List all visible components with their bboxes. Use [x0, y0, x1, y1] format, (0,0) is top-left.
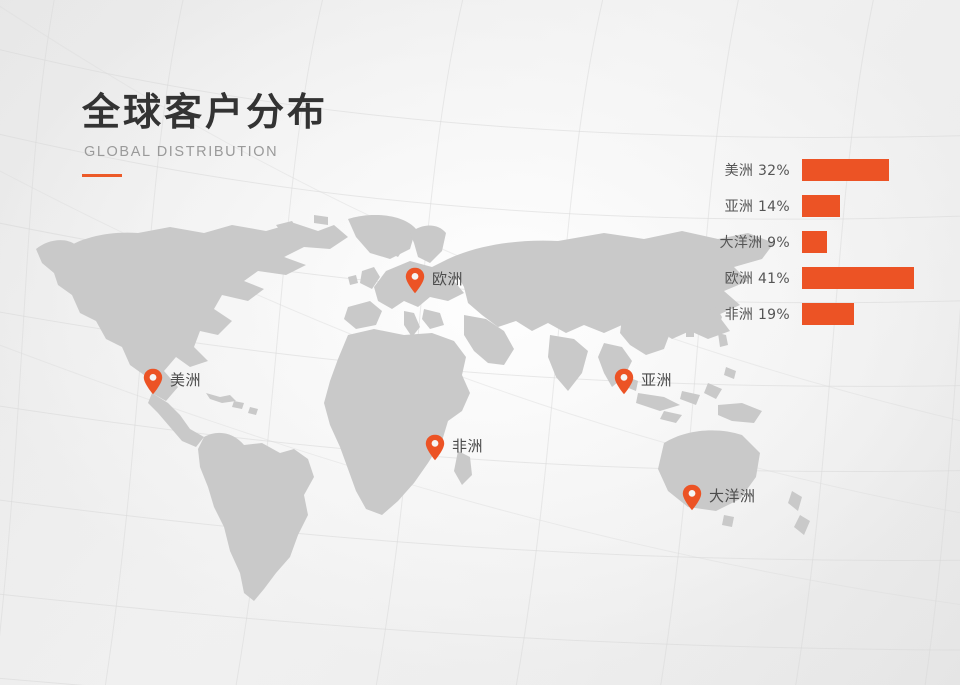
bar-label: 非洲 19%: [700, 304, 802, 324]
page-subtitle: GLOBAL DISTRIBUTION: [84, 144, 328, 160]
map-marker-label: 非洲: [452, 435, 483, 456]
bar-track: [802, 303, 925, 325]
bar-label: 欧洲 41%: [700, 268, 802, 288]
bar-row: 欧洲 41%: [700, 260, 925, 296]
map-marker-label: 亚洲: [641, 369, 672, 390]
bar-fill: [802, 267, 914, 289]
bar-track: [802, 267, 925, 289]
bar-row: 非洲 19%: [700, 296, 925, 332]
bar-track: [802, 231, 925, 253]
accent-underline: [82, 174, 122, 177]
bar-track: [802, 195, 925, 217]
page-title: 全球客户分布: [82, 92, 328, 133]
location-pin-icon: [405, 267, 425, 294]
bar-fill: [802, 303, 854, 325]
bar-fill: [802, 159, 889, 181]
map-marker-oceania[interactable]: 大洋洲: [682, 484, 756, 511]
location-pin-icon: [143, 368, 163, 395]
bar-label: 亚洲 14%: [700, 196, 802, 216]
location-pin-icon: [425, 434, 445, 461]
distribution-bar-chart: 美洲 32% 亚洲 14% 大洋洲 9% 欧洲 41% 非洲 19%: [700, 152, 925, 332]
bar-track: [802, 159, 925, 181]
bar-fill: [802, 231, 827, 253]
map-marker-label: 美洲: [170, 369, 201, 390]
location-pin-icon: [614, 368, 634, 395]
map-marker-asia[interactable]: 亚洲: [614, 368, 672, 395]
bar-row: 大洋洲 9%: [700, 224, 925, 260]
map-marker-europe[interactable]: 欧洲: [405, 267, 463, 294]
bar-label: 大洋洲 9%: [700, 232, 802, 252]
slide-canvas: 全球客户分布 GLOBAL DISTRIBUTION 美洲 欧洲: [0, 0, 960, 685]
map-marker-label: 大洋洲: [709, 485, 756, 506]
bar-label: 美洲 32%: [700, 160, 802, 180]
map-marker-americas[interactable]: 美洲: [143, 368, 201, 395]
map-marker-africa[interactable]: 非洲: [425, 434, 483, 461]
bar-row: 亚洲 14%: [700, 188, 925, 224]
bar-fill: [802, 195, 840, 217]
bar-row: 美洲 32%: [700, 152, 925, 188]
map-marker-label: 欧洲: [432, 268, 463, 289]
location-pin-icon: [682, 484, 702, 511]
heading-block: 全球客户分布 GLOBAL DISTRIBUTION: [82, 92, 328, 177]
